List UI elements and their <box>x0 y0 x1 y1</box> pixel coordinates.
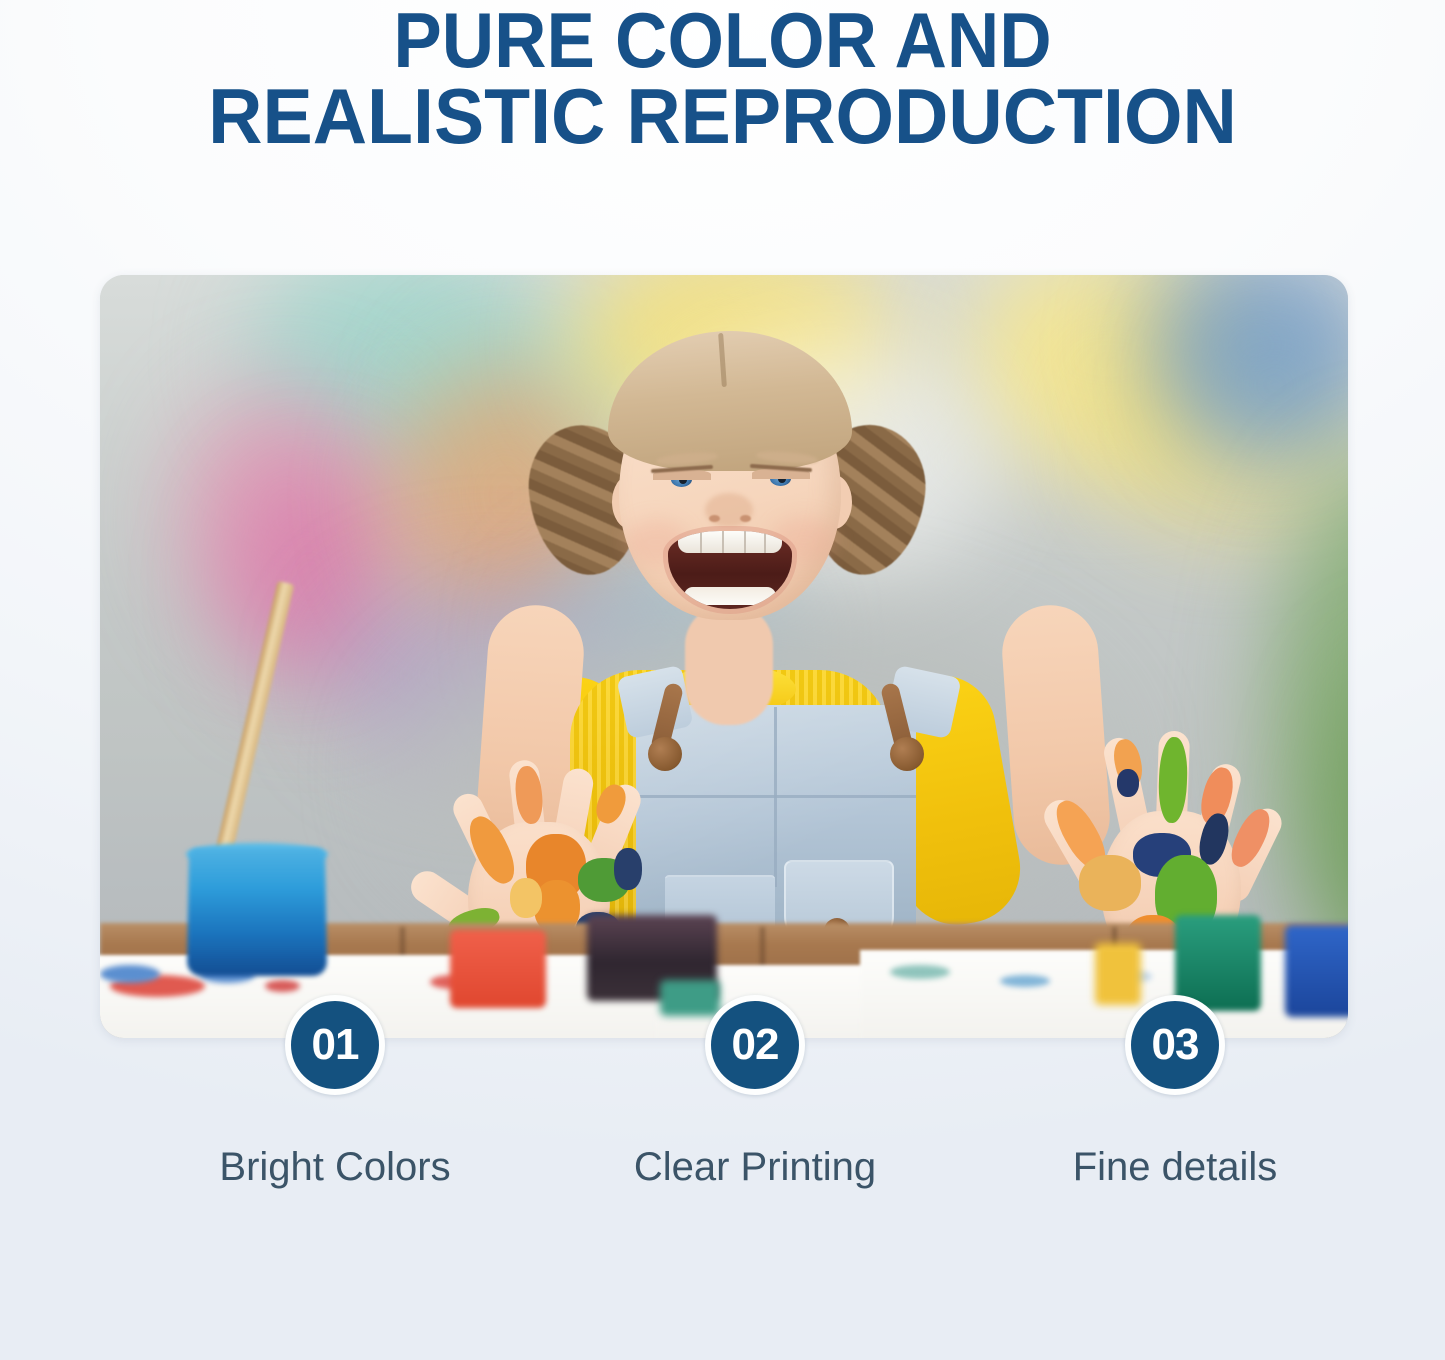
feature-item-02: 02 Clear Printing <box>605 995 905 1190</box>
feature-badge-03: 03 <box>1125 995 1225 1095</box>
hair <box>608 331 852 471</box>
feature-badge-02: 02 <box>705 995 805 1095</box>
feature-list: 01 Bright Colors 02 Clear Printing 03 Fi… <box>100 995 1348 1215</box>
paint-smudge-yellow <box>510 878 542 918</box>
paint-splotch <box>890 965 950 979</box>
overalls-buckle-right <box>890 737 924 771</box>
nostril-left <box>709 515 720 522</box>
paint-smudge-navy <box>614 848 642 890</box>
upper-teeth <box>678 531 782 553</box>
paint-splotch <box>1000 975 1050 987</box>
paint-smudge-navy <box>1117 769 1139 797</box>
feature-label-01: Bright Colors <box>185 1145 485 1190</box>
overalls-seam-horizontal <box>636 795 916 798</box>
open-smiling-mouth <box>668 531 792 609</box>
paint-splotch <box>265 980 300 992</box>
paint-smudge-yellow <box>1079 855 1141 911</box>
feature-badge-01: 01 <box>285 995 385 1095</box>
nostril-right <box>740 515 751 522</box>
lower-teeth <box>684 587 776 605</box>
neck <box>685 605 773 725</box>
hero-photo <box>100 275 1348 1038</box>
paint-splotch <box>100 965 160 983</box>
feature-item-01: 01 Bright Colors <box>185 995 485 1190</box>
feature-item-03: 03 Fine details <box>1025 995 1325 1190</box>
page-title: PURE COLOR AND REALISTIC REPRODUCTION <box>0 2 1445 154</box>
blue-paint-cup <box>187 848 327 976</box>
feature-label-02: Clear Printing <box>605 1145 905 1190</box>
feature-label-03: Fine details <box>1025 1145 1325 1190</box>
headline-line-1: PURE COLOR AND <box>51 2 1395 78</box>
headline-line-2: REALISTIC REPRODUCTION <box>25 78 1419 154</box>
